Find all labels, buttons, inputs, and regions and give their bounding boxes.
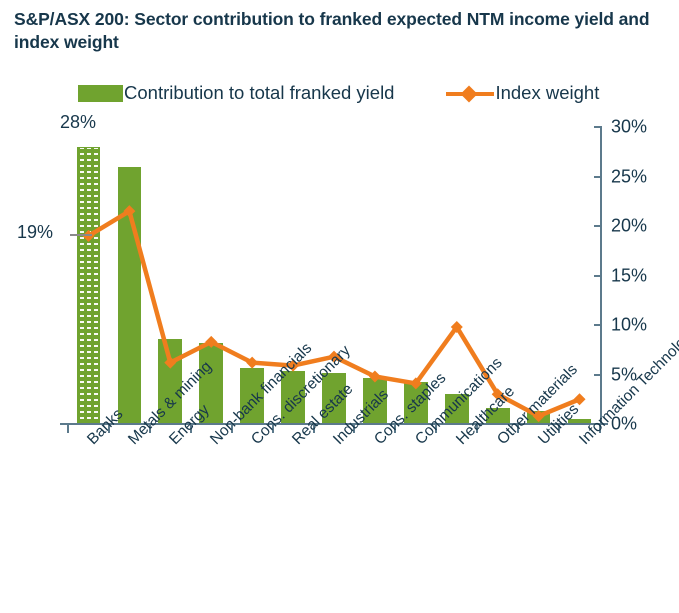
x-tick-11 [517, 424, 519, 433]
y-tick-label-5: 5% [611, 364, 637, 385]
x-tick-10 [476, 424, 478, 433]
callout-leader-line [70, 234, 92, 236]
legend-bar-swatch-icon [78, 85, 123, 102]
y-tick-30 [594, 126, 602, 128]
y-tick-label-15: 15% [611, 265, 647, 286]
legend-line-marker-icon [446, 85, 494, 102]
x-tick-1 [108, 424, 110, 433]
x-tick-5 [272, 424, 274, 433]
y-tick-label-20: 20% [611, 216, 647, 237]
x-tick-8 [394, 424, 396, 433]
y-tick-label-0: 0% [611, 414, 637, 435]
x-tick-2 [149, 424, 151, 433]
y-tick-5 [594, 374, 602, 376]
x-tick-13 [599, 424, 601, 433]
y-tick-label-10: 10% [611, 315, 647, 336]
y-tick-label-25: 25% [611, 166, 647, 187]
x-axis [60, 423, 608, 425]
y-tick-10 [594, 324, 602, 326]
line-marker-real-estate [287, 360, 299, 372]
index-weight-line [88, 211, 579, 416]
x-tick-0 [67, 424, 69, 433]
legend-item-index-weight: Index weight [446, 82, 599, 104]
bar-value-label-banks: 28% [60, 112, 96, 133]
line-value-label-banks: 19% [17, 222, 53, 243]
y-tick-15 [594, 275, 602, 277]
chart-legend: Contribution to total franked yield Inde… [78, 80, 618, 106]
x-tick-6 [313, 424, 315, 433]
plot-area [68, 127, 600, 424]
x-tick-4 [231, 424, 233, 433]
legend-item-contribution: Contribution to total franked yield [78, 82, 394, 104]
x-tick-12 [558, 424, 560, 433]
legend-label-index-weight: Index weight [495, 82, 599, 104]
y-tick-label-30: 30% [611, 117, 647, 138]
y-tick-20 [594, 225, 602, 227]
y-tick-25 [594, 176, 602, 178]
line-marker-information-technology [574, 393, 586, 405]
chart-title: S&P/ASX 200: Sector contribution to fran… [14, 8, 654, 55]
legend-label-contribution: Contribution to total franked yield [124, 82, 394, 104]
x-tick-3 [190, 424, 192, 433]
x-tick-9 [435, 424, 437, 433]
x-tick-7 [353, 424, 355, 433]
line-series-layer [68, 127, 600, 424]
chart-container: S&P/ASX 200: Sector contribution to fran… [0, 0, 679, 613]
legend-diamond-icon [461, 85, 478, 102]
